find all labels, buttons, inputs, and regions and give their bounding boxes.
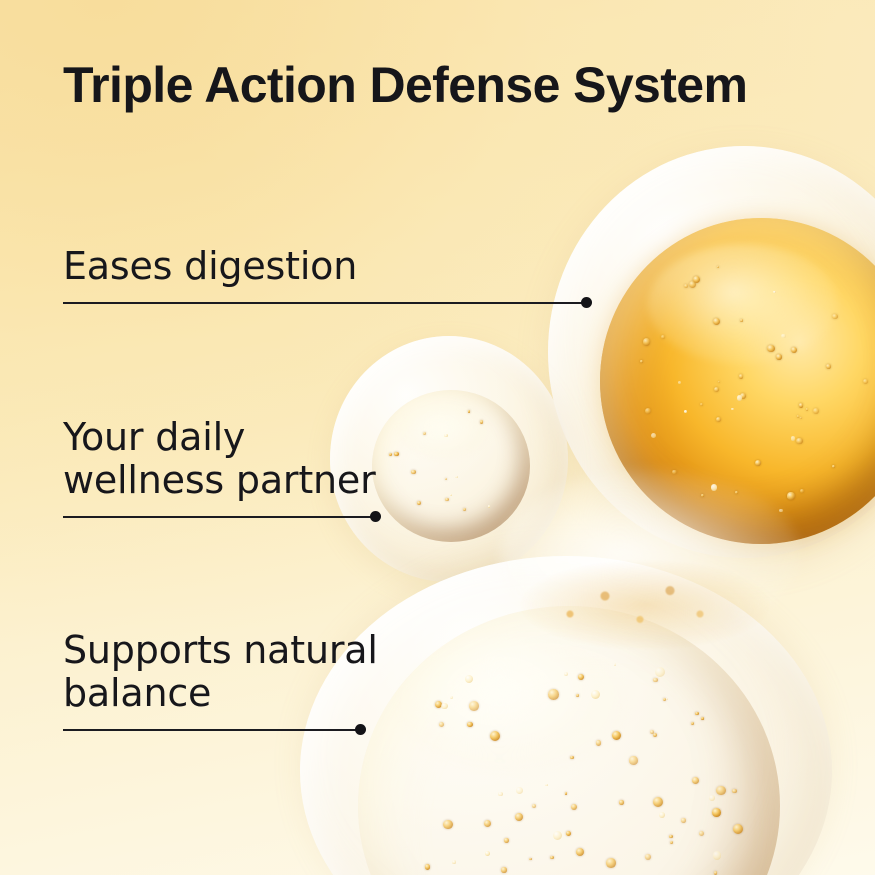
leader-line-2 bbox=[63, 511, 376, 523]
feature-label-3: Supports natural balance bbox=[63, 629, 378, 715]
leader-dot-3 bbox=[355, 724, 366, 735]
feature-item-1: Eases digestion bbox=[63, 245, 357, 309]
leader-rule-3 bbox=[63, 729, 360, 731]
leader-dot-2 bbox=[370, 511, 381, 522]
bottom-bubble-highlight bbox=[400, 636, 626, 774]
middle-bubble-highlight bbox=[398, 404, 490, 460]
feature-label-2: Your daily wellness partner bbox=[63, 416, 376, 502]
top-right-bubble-highlight bbox=[648, 244, 838, 364]
leader-line-1 bbox=[63, 297, 357, 309]
leader-line-3 bbox=[63, 724, 378, 736]
leader-rule-1 bbox=[63, 302, 586, 304]
product-feature-poster: Triple Action Defense System Eases diges… bbox=[0, 0, 875, 875]
feature-label-1: Eases digestion bbox=[63, 245, 357, 288]
feature-item-2: Your daily wellness partner bbox=[63, 416, 376, 523]
gold-foam-icon bbox=[520, 560, 770, 650]
page-title: Triple Action Defense System bbox=[63, 56, 747, 114]
feature-item-3: Supports natural balance bbox=[63, 629, 378, 736]
leader-rule-2 bbox=[63, 516, 375, 518]
leader-dot-1 bbox=[581, 297, 592, 308]
